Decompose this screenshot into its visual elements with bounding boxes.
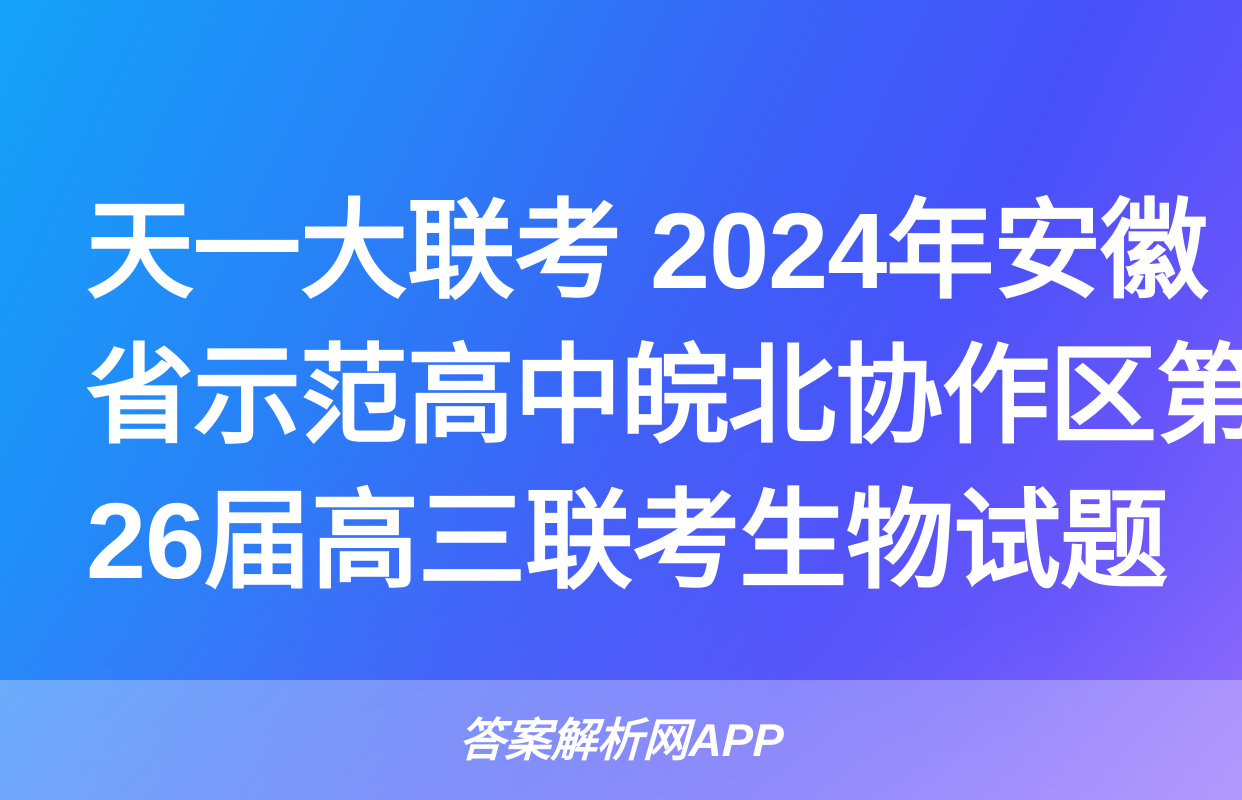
page-title: 天一大联考 2024年安徽 省示范高中皖北协作区第 26届高三联考生物试题: [86, 178, 1166, 613]
title-line-3: 26届高三联考生物试题: [86, 468, 1166, 613]
cover-card: 天一大联考 2024年安徽 省示范高中皖北协作区第 26届高三联考生物试题 答案…: [0, 0, 1242, 800]
title-line-1: 天一大联考 2024年安徽: [86, 178, 1166, 323]
watermark-label: 答案解析网APP: [458, 717, 784, 763]
title-line-2: 省示范高中皖北协作区第: [86, 323, 1166, 468]
watermark-band: 答案解析网APP: [0, 680, 1242, 800]
